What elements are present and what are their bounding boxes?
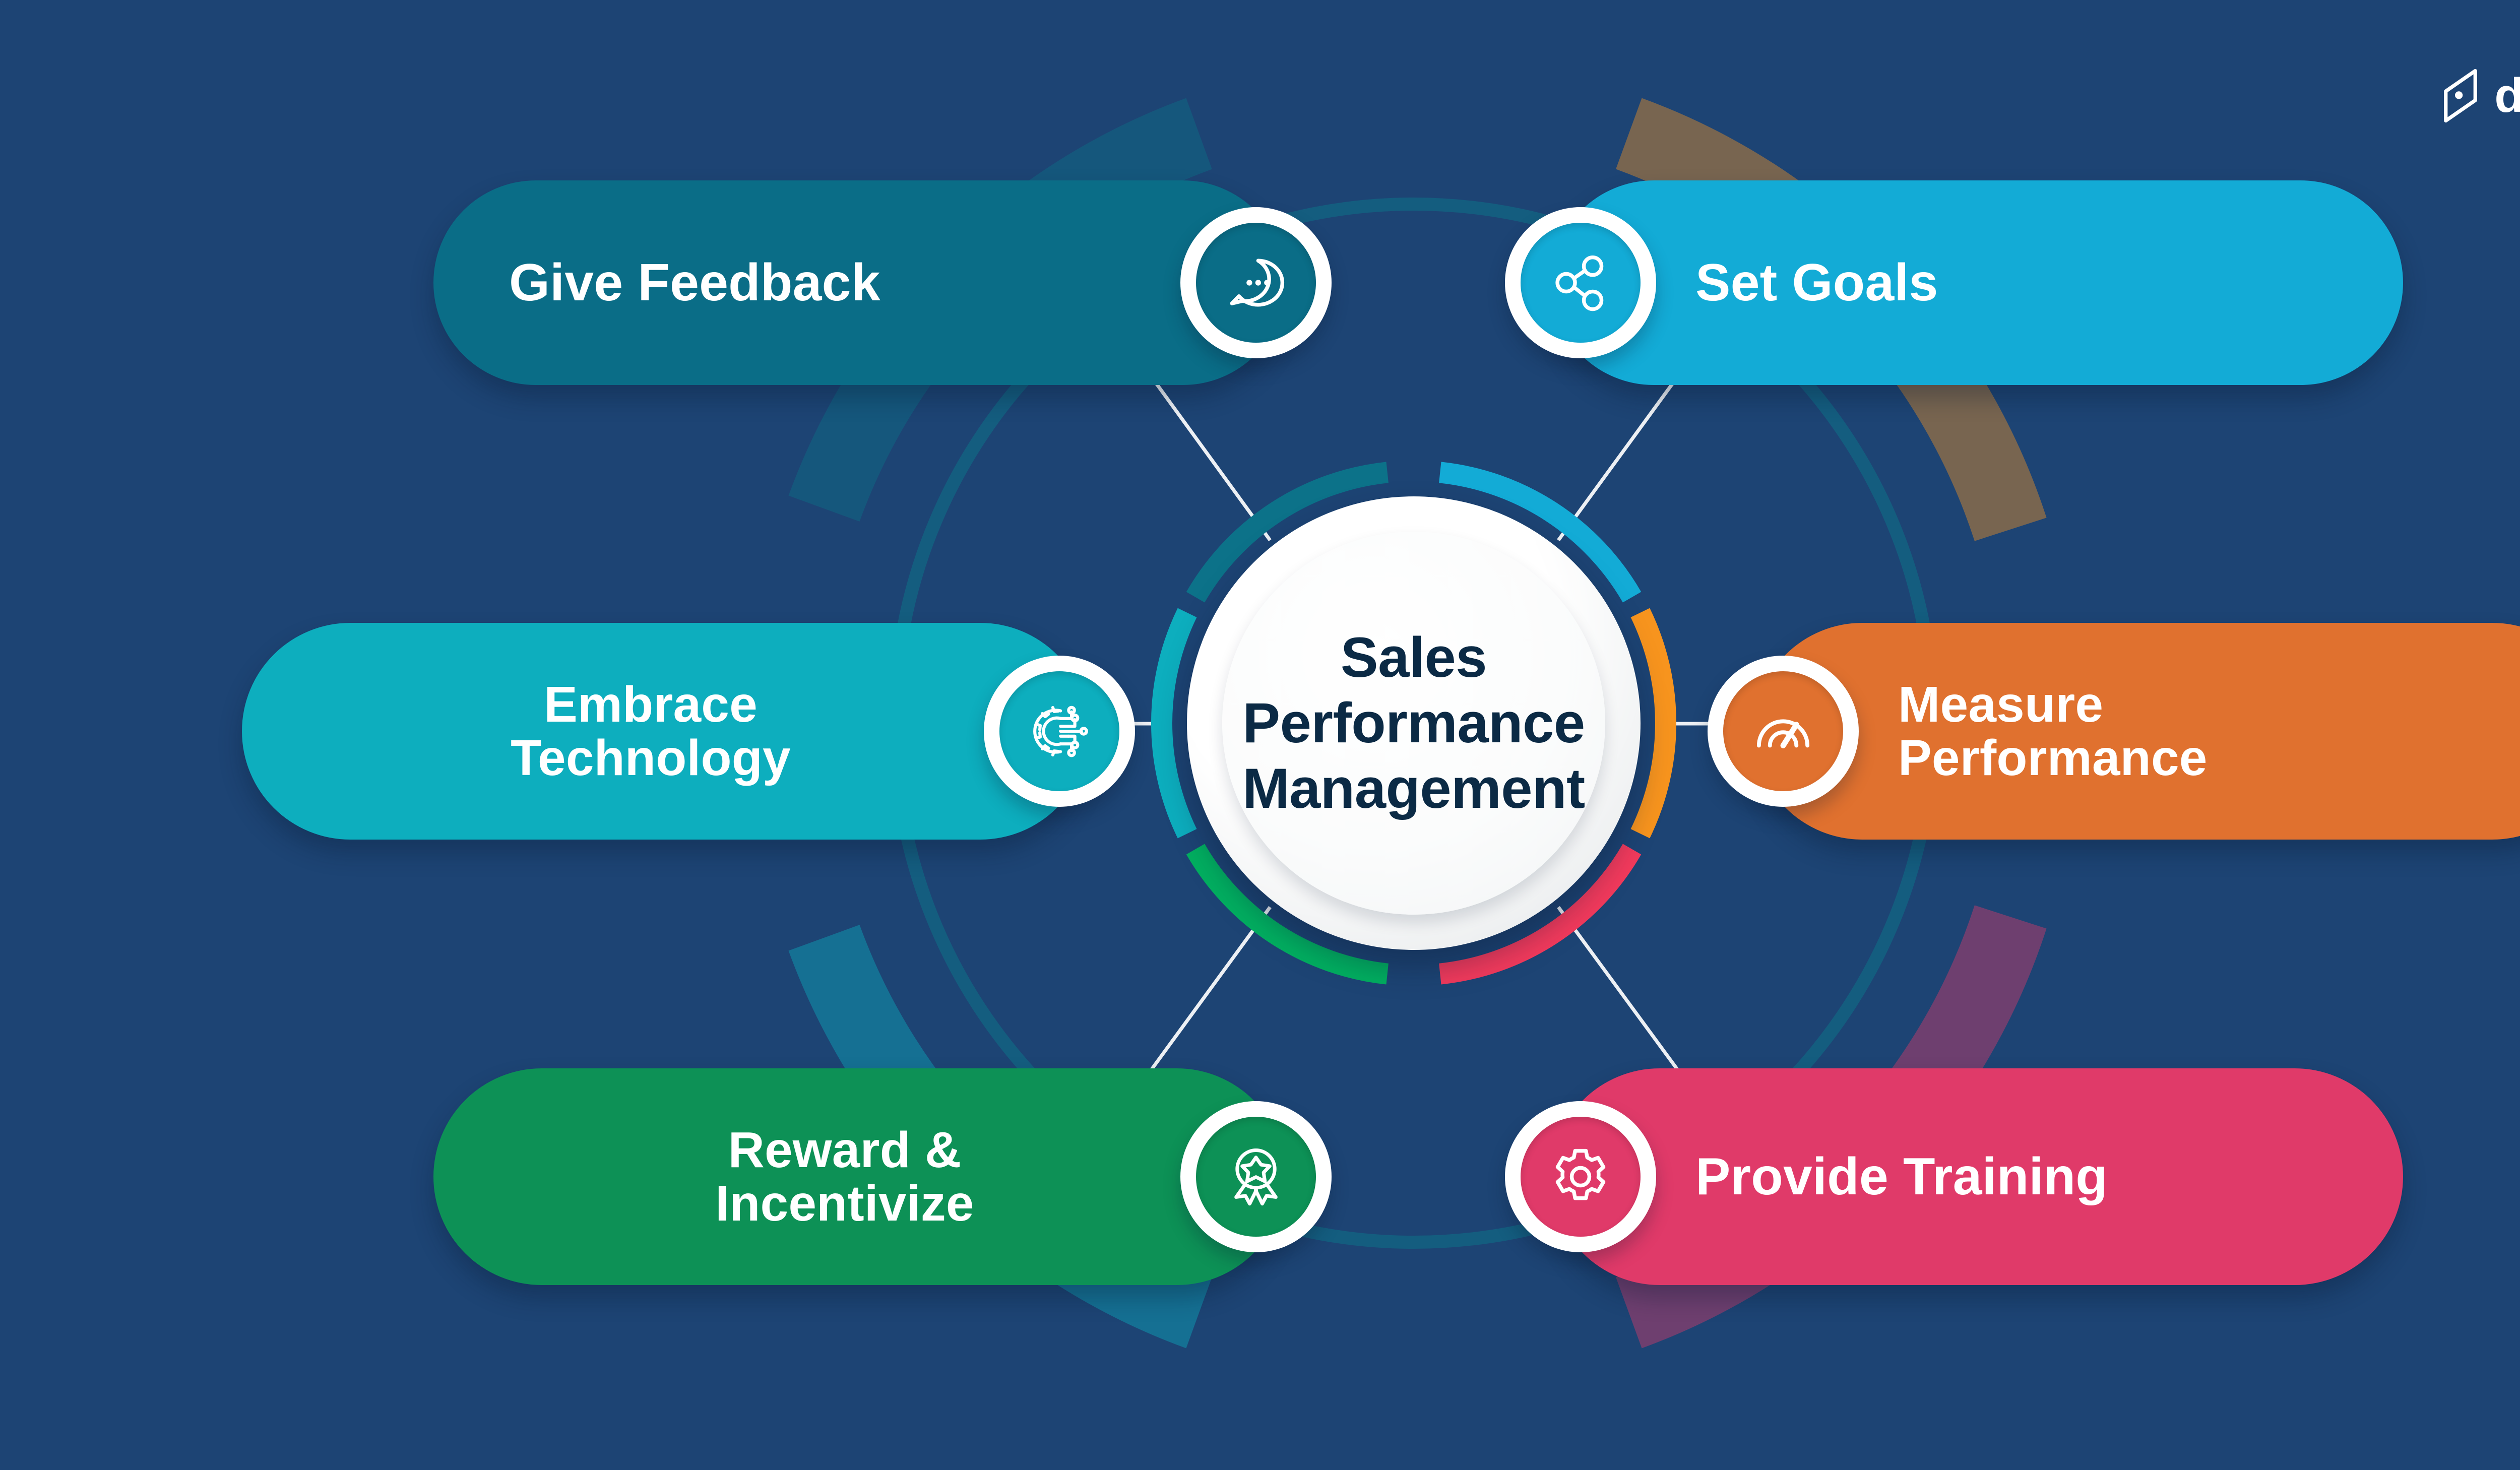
brand-wordmark: draup Sales (2494, 72, 2520, 120)
share-network-icon (1545, 247, 1616, 318)
brand-name: draup (2494, 72, 2520, 120)
ring-seg-embrace-technology (1162, 613, 1187, 834)
center-hub: Sales Performance Management (1187, 496, 1641, 950)
award-medal-icon-wrap (1180, 1101, 1332, 1252)
node-give-feedback-label: Give Feedback (509, 255, 880, 310)
node-embrace-technology-label: Embrace Technology (318, 678, 984, 785)
tech-gear-circuit-icon-wrap (984, 656, 1135, 807)
node-reward-incentivize[interactable]: Reward & Incentivize (433, 1068, 1285, 1285)
brand-logo: draup Sales (2438, 66, 2520, 126)
draup-leaf-icon (2438, 69, 2483, 123)
node-set-goals[interactable]: Set Goals (1551, 180, 2403, 385)
node-reward-incentivize-label: Reward & Incentivize (509, 1123, 1180, 1230)
page-title: Sales Performance Management (1242, 625, 1585, 821)
spoke-set-goals (1558, 362, 1688, 540)
node-embrace-technology[interactable]: Embrace Technology (242, 623, 1089, 840)
node-measure-performance-label: Measure Performance (1898, 678, 2208, 785)
gear-icon (1545, 1141, 1616, 1212)
speech-bubble-icon (1221, 247, 1291, 318)
spoke-give-feedback (1141, 362, 1270, 540)
node-set-goals-label: Set Goals (1695, 255, 1938, 310)
speedometer-icon-wrap (1708, 656, 1859, 807)
infographic-canvas: Sales Performance Management Give Feedba… (0, 0, 2520, 1470)
speech-bubble-icon-wrap (1180, 207, 1332, 358)
spoke-reward-incentivize (1141, 907, 1270, 1084)
spoke-provide-training (1558, 907, 1688, 1084)
ring-seg-measure-performance (1640, 613, 1666, 834)
gear-icon-wrap (1505, 1101, 1656, 1252)
award-medal-icon (1221, 1141, 1291, 1212)
center-hub-inner: Sales Performance Management (1222, 532, 1605, 915)
tech-gear-circuit-icon (1024, 696, 1095, 766)
node-provide-training-label: Provide Training (1695, 1149, 2108, 1204)
speedometer-icon (1748, 696, 1818, 766)
share-network-icon-wrap (1505, 207, 1656, 358)
node-measure-performance[interactable]: Measure Performance (1754, 623, 2520, 840)
node-provide-training[interactable]: Provide Training (1551, 1068, 2403, 1285)
node-give-feedback[interactable]: Give Feedback (433, 180, 1285, 385)
